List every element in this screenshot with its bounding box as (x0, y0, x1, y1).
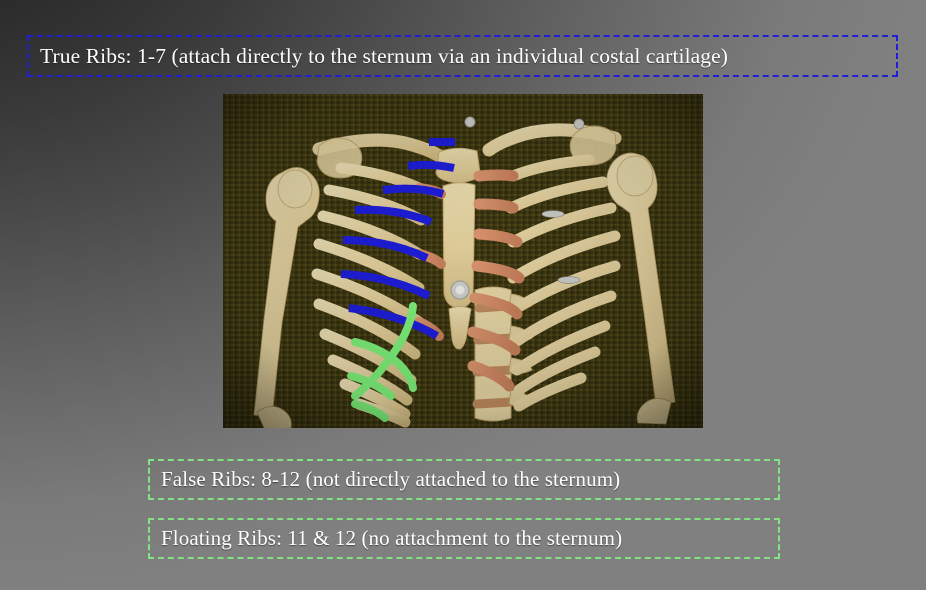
callout-false-ribs-text: False Ribs: 8-12 (not directly attached … (150, 467, 620, 492)
callout-true-ribs-text: True Ribs: 1-7 (attach directly to the s… (29, 44, 728, 69)
rib-cage-illustration (223, 94, 703, 428)
callout-floating-ribs-text: Floating Ribs: 11 & 12 (no attachment to… (150, 526, 622, 551)
callout-true-ribs: True Ribs: 1-7 (attach directly to the s… (27, 35, 898, 77)
callout-floating-ribs: Floating Ribs: 11 & 12 (no attachment to… (148, 518, 780, 559)
callout-false-ribs: False Ribs: 8-12 (not directly attached … (148, 459, 780, 500)
rib-cage-photo (223, 94, 703, 428)
slide-canvas: True Ribs: 1-7 (attach directly to the s… (0, 0, 926, 590)
